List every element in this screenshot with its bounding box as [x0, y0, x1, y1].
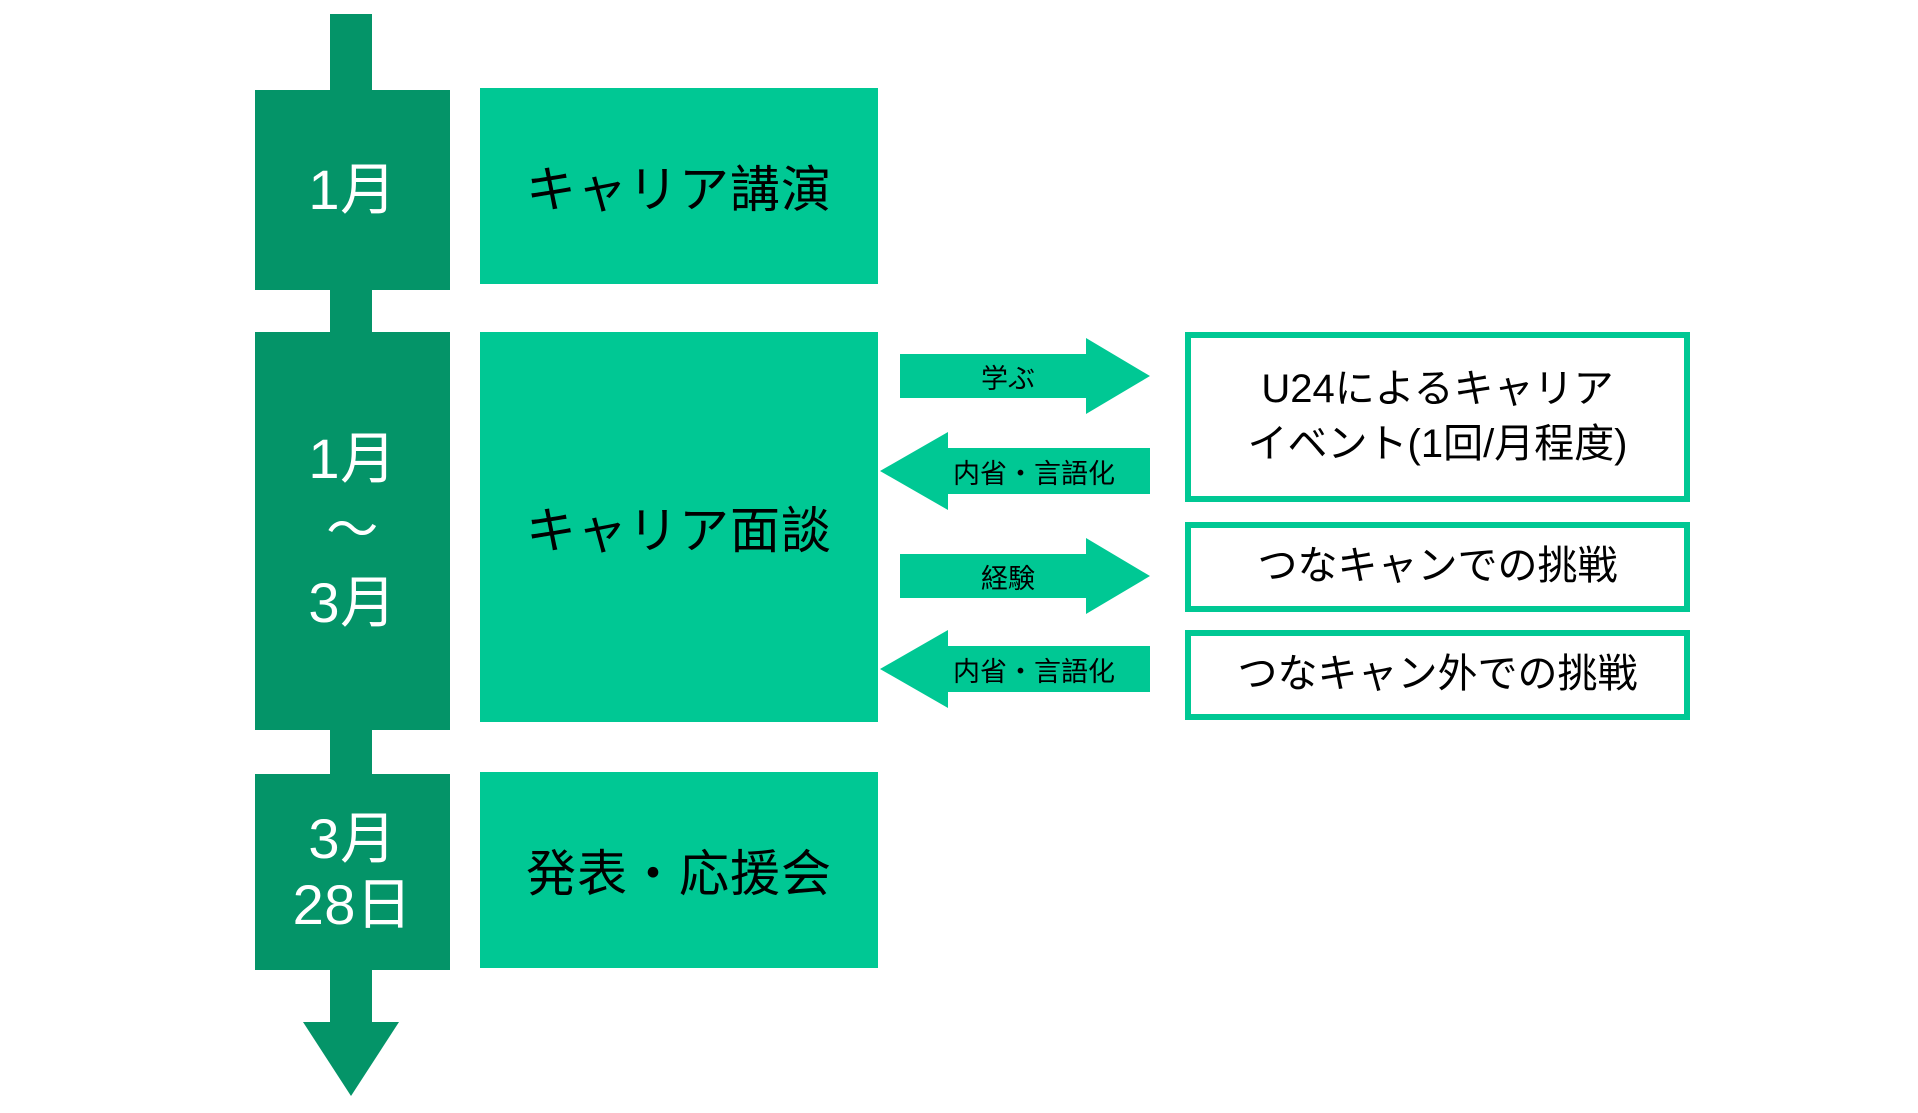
- timeline-spine-segment-3: [330, 968, 372, 1030]
- flow-arrow-reflect-2: 内省・言語化: [880, 630, 1150, 708]
- activity-label: キャリア講演: [526, 150, 832, 222]
- outcome-label-line: つなキャンでの挑戦: [1258, 539, 1618, 594]
- activity-label: キャリア面談: [526, 491, 832, 563]
- month-box-phase-1: 1月: [255, 90, 450, 290]
- month-box-phase-3: 3月 28日: [255, 774, 450, 970]
- month-label-line: 28日: [293, 872, 413, 938]
- timeline-diagram: 1月 1月 〜 3月 3月 28日 キャリア講演 キャリア面談 発表・応援会 学…: [0, 0, 1918, 1113]
- timeline-arrowhead-icon: [303, 1022, 399, 1096]
- outcome-label-line: U24によるキャリア: [1261, 362, 1613, 417]
- activity-box-phase-3: 発表・応援会: [480, 772, 878, 968]
- timeline-spine-segment-2: [330, 728, 372, 776]
- flow-arrow-reflect-1: 内省・言語化: [880, 432, 1150, 510]
- timeline-spine-top: [330, 14, 372, 92]
- activity-box-phase-1: キャリア講演: [480, 88, 878, 284]
- month-label-range-tilde: 〜: [326, 492, 379, 570]
- arrow-right-icon: [900, 538, 1150, 614]
- month-label-line: 3月: [308, 806, 396, 872]
- activity-box-phase-2: キャリア面談: [480, 332, 878, 722]
- arrow-left-icon: [880, 630, 1150, 708]
- month-label-line: 3月: [308, 570, 396, 636]
- activity-label: 発表・応援会: [526, 834, 832, 906]
- arrow-right-icon: [900, 338, 1150, 414]
- month-label-line: 1月: [308, 157, 396, 223]
- outcome-label-line: つなキャン外での挑戦: [1238, 647, 1638, 702]
- month-box-phase-2: 1月 〜 3月: [255, 332, 450, 730]
- flow-arrow-learn: 学ぶ: [900, 338, 1150, 414]
- outcome-box-tsunacan-challenge: つなキャンでの挑戦: [1185, 522, 1690, 612]
- month-label-line: 1月: [308, 426, 396, 492]
- timeline-spine-segment-1: [330, 288, 372, 334]
- outcome-box-outside-challenge: つなキャン外での挑戦: [1185, 630, 1690, 720]
- outcome-box-u24-event: U24によるキャリア イベント(1回/月程度): [1185, 332, 1690, 502]
- outcome-label-line: イベント(1回/月程度): [1248, 417, 1628, 472]
- flow-arrow-experience: 経験: [900, 538, 1150, 614]
- arrow-left-icon: [880, 432, 1150, 510]
